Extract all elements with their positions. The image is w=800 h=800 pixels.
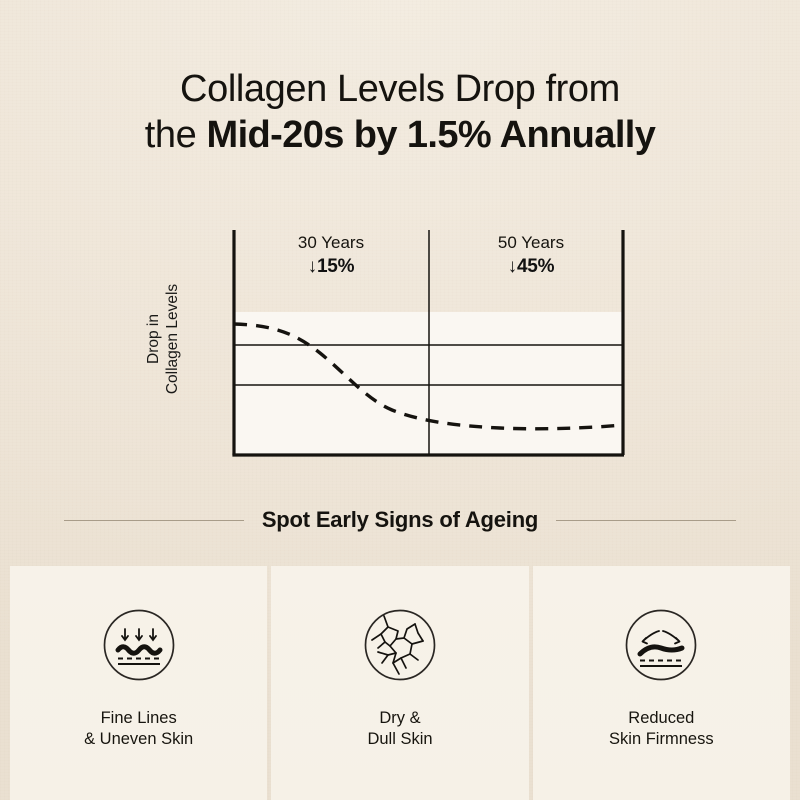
card-label-reduced-firmness: Reduced Skin Firmness [609, 708, 714, 750]
card-label-fine-lines: Fine Lines & Uneven Skin [84, 708, 193, 750]
skin-fine-lines-icon [102, 608, 176, 682]
divider-rule-left [64, 520, 244, 521]
title-line-2-prefix: the [145, 114, 207, 156]
page-title: Collagen Levels Drop from the Mid-20s by… [0, 66, 800, 158]
card-label-dry-dull-skin: Dry & Dull Skin [367, 708, 432, 750]
chart-plot-area [170, 222, 640, 472]
section-heading-row: Spot Early Signs of Ageing [0, 500, 800, 540]
title-line-1: Collagen Levels Drop from [0, 66, 800, 112]
infographic-page: Collagen Levels Drop from the Mid-20s by… [0, 0, 800, 800]
skin-cracked-dry-icon [363, 608, 437, 682]
section-title: Spot Early Signs of Ageing [262, 507, 538, 533]
card-fine-lines[interactable]: Fine Lines & Uneven Skin [10, 566, 267, 800]
collagen-decline-chart: Drop in Collagen Levels 30 Years ↓15% 50… [170, 222, 640, 472]
card-reduced-firmness[interactable]: Reduced Skin Firmness [533, 566, 790, 800]
ageing-signs-card-row: Fine Lines & Uneven Skin [10, 566, 790, 800]
divider-rule-right [556, 520, 736, 521]
title-line-2: the Mid-20s by 1.5% Annually [0, 112, 800, 158]
card-dry-dull-skin[interactable]: Dry & Dull Skin [271, 566, 528, 800]
skin-sagging-firmness-icon [624, 608, 698, 682]
title-line-2-emphasis: Mid-20s by 1.5% Annually [207, 114, 656, 156]
